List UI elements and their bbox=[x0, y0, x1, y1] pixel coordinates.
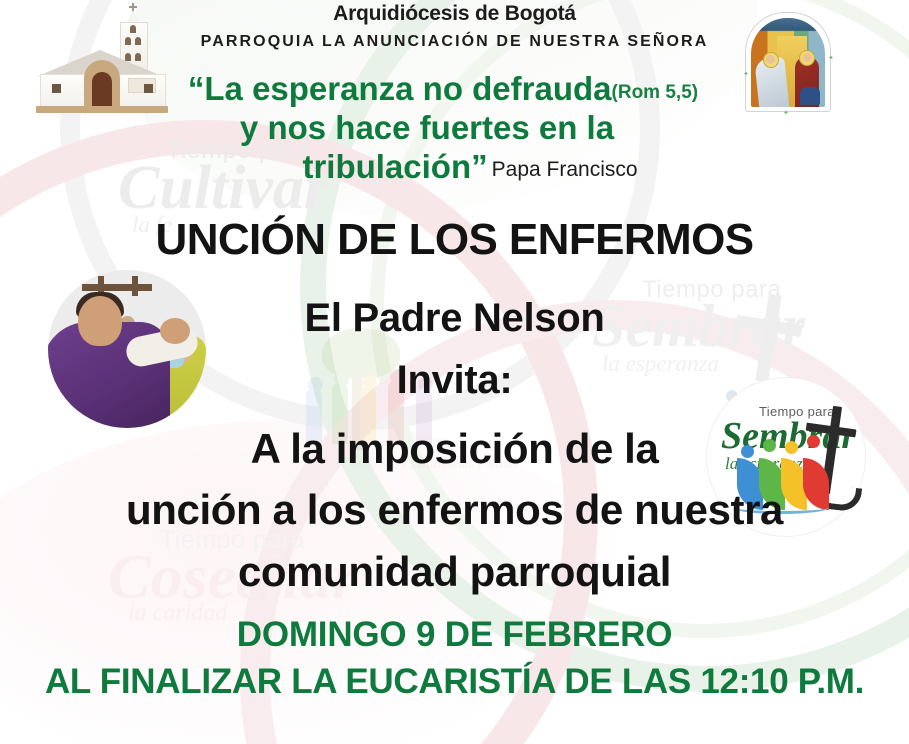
quote-line-2: y nos hace fuertes en la bbox=[94, 109, 760, 148]
quote-attribution: Papa Francisco bbox=[492, 158, 638, 181]
quote-line-1: “La esperanza no defrauda(Rom 5,5) bbox=[126, 70, 760, 109]
page-title: UNCIÓN DE LOS ENFERMOS bbox=[0, 215, 909, 265]
parish-name: PARROQUIA LA ANUNCIACIÓN DE NUESTRA SEÑO… bbox=[0, 33, 909, 51]
invitation-line-1: El Padre Nelson bbox=[0, 296, 909, 341]
body-line-2: unción a los enfermos de nuestra bbox=[0, 486, 909, 534]
quote-line-3: tribulación”Papa Francisco bbox=[180, 148, 760, 187]
quote-line-1-text: “La esperanza no defrauda bbox=[188, 70, 612, 107]
invitation-line-2: Invita: bbox=[0, 358, 909, 403]
quote-scripture-reference: (Rom 5,5) bbox=[612, 82, 699, 103]
event-date: DOMINGO 9 DE FEBRERO bbox=[0, 615, 909, 655]
poster-text-content: Arquidiócesis de Bogotá PARROQUIA LA ANU… bbox=[0, 0, 909, 744]
body-line-3: comunidad parroquial bbox=[0, 548, 909, 596]
archdiocese-title: Arquidiócesis de Bogotá bbox=[0, 2, 909, 26]
event-time: AL FINALIZAR LA EUCARISTÍA DE LAS 12:10 … bbox=[0, 662, 909, 702]
parish-announcement-poster: Tiempo para Cultivar la fe Tiempo para S… bbox=[0, 0, 909, 744]
quote-line-3-text: tribulación” bbox=[302, 148, 487, 185]
papal-quote-block: “La esperanza no defrauda(Rom 5,5) y nos… bbox=[120, 70, 760, 187]
body-line-1: A la imposición de la bbox=[0, 425, 909, 473]
